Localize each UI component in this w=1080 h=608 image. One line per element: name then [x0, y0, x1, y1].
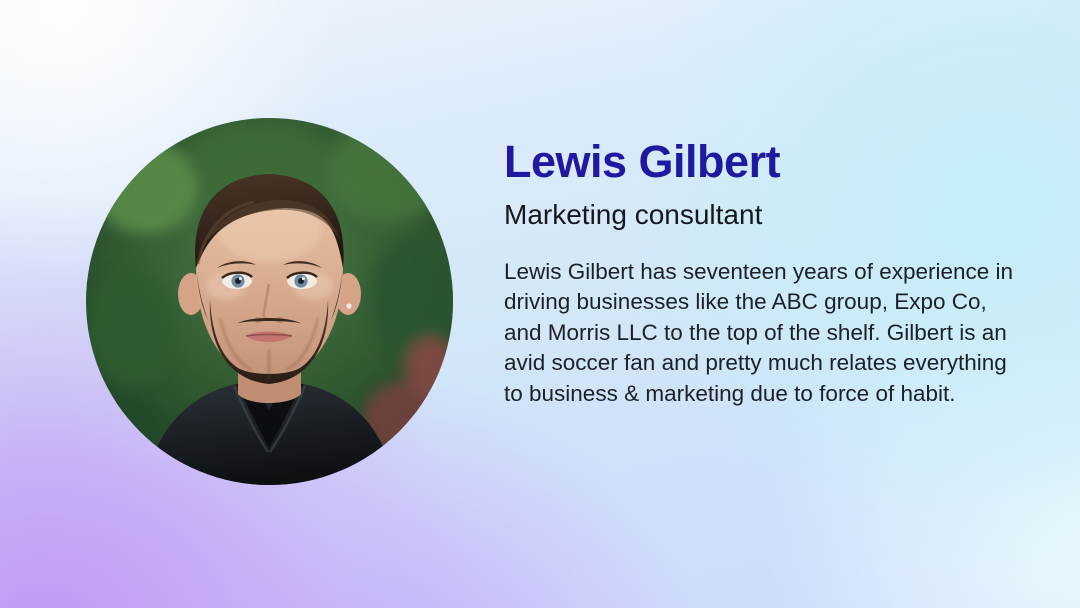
- profile-bio: Lewis Gilbert has seventeen years of exp…: [504, 257, 1024, 410]
- profile-name: Lewis Gilbert: [504, 138, 1026, 186]
- profile-text-column: Lewis Gilbert Marketing consultant Lewis…: [504, 138, 1026, 409]
- profile-slide: Lewis Gilbert Marketing consultant Lewis…: [0, 0, 1080, 608]
- portrait-photo: [86, 118, 453, 485]
- profile-role: Marketing consultant: [504, 198, 1026, 231]
